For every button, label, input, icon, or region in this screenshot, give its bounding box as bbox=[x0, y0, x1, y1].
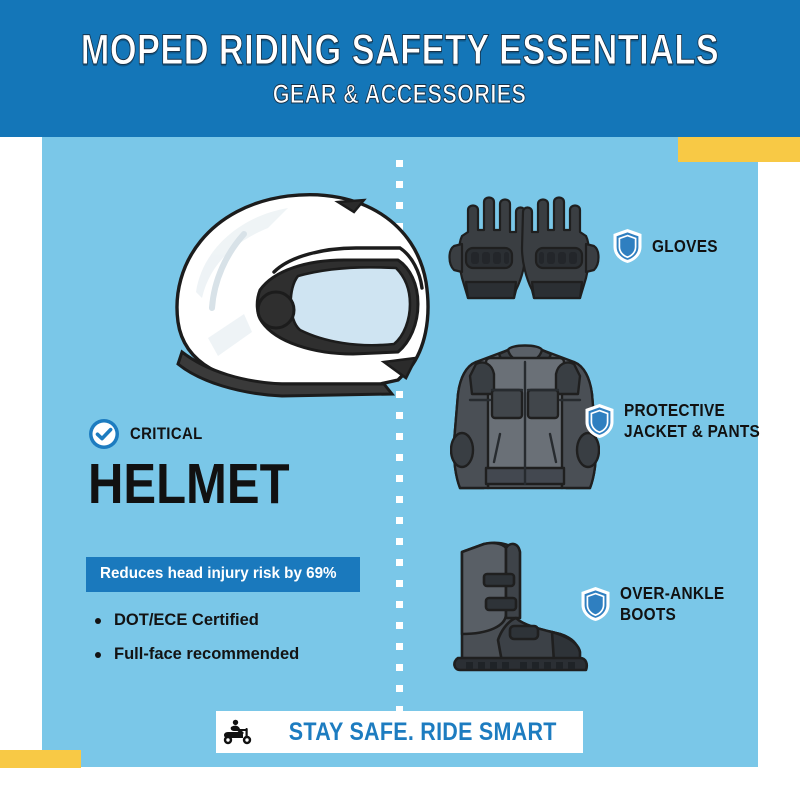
scooter-rider-icon bbox=[220, 719, 254, 745]
stat-highlight-bar: Reduces head injury risk by 69% bbox=[86, 557, 360, 592]
gear-item-label: PROTECTIVE JACKET & PANTS bbox=[624, 400, 760, 441]
riding-gloves-illustration bbox=[440, 186, 608, 308]
footer-banner: STAY SAFE. RIDE SMART bbox=[216, 711, 583, 753]
page-subtitle: GEAR & ACCESSORIES bbox=[273, 81, 527, 108]
protective-jacket-illustration bbox=[450, 338, 600, 498]
featured-bullet-list: DOT/ECE Certified Full-face recommended bbox=[92, 612, 299, 679]
gear-label-gloves: GLOVES bbox=[612, 228, 727, 264]
shield-icon bbox=[612, 228, 643, 264]
gear-item-gloves bbox=[440, 186, 608, 308]
gear-item-label: GLOVES bbox=[652, 236, 718, 257]
full-face-helmet-illustration bbox=[148, 172, 468, 417]
critical-label: CRITICAL bbox=[130, 424, 203, 444]
footer-tagline: STAY SAFE. RIDE SMART bbox=[289, 720, 557, 745]
header-banner: MOPED RIDING SAFETY ESSENTIALS GEAR & AC… bbox=[0, 0, 800, 137]
accent-bar-top-right bbox=[678, 137, 800, 162]
infographic-canvas: MOPED RIDING SAFETY ESSENTIALS GEAR & AC… bbox=[0, 0, 800, 800]
list-item: Full-face recommended bbox=[92, 646, 299, 663]
shield-icon bbox=[584, 403, 615, 439]
riding-boot-illustration bbox=[440, 522, 592, 674]
gear-label-jacket: PROTECTIVE JACKET & PANTS bbox=[584, 400, 779, 441]
gear-item-label: OVER-ANKLE BOOTS bbox=[620, 583, 724, 624]
gear-item-jacket bbox=[450, 338, 600, 498]
list-item: DOT/ECE Certified bbox=[92, 612, 299, 629]
shield-icon bbox=[580, 586, 611, 622]
stat-highlight-text: Reduces head injury risk by 69% bbox=[100, 566, 334, 582]
gear-label-boots: OVER-ANKLE BOOTS bbox=[580, 583, 739, 624]
page-title: MOPED RIDING SAFETY ESSENTIALS bbox=[81, 29, 719, 72]
critical-badge-row: CRITICAL bbox=[88, 418, 213, 450]
accent-bar-bottom-left bbox=[0, 750, 81, 768]
check-circle-icon bbox=[88, 418, 120, 450]
gear-item-boots bbox=[440, 522, 592, 674]
featured-gear-name: HELMET bbox=[88, 456, 290, 513]
